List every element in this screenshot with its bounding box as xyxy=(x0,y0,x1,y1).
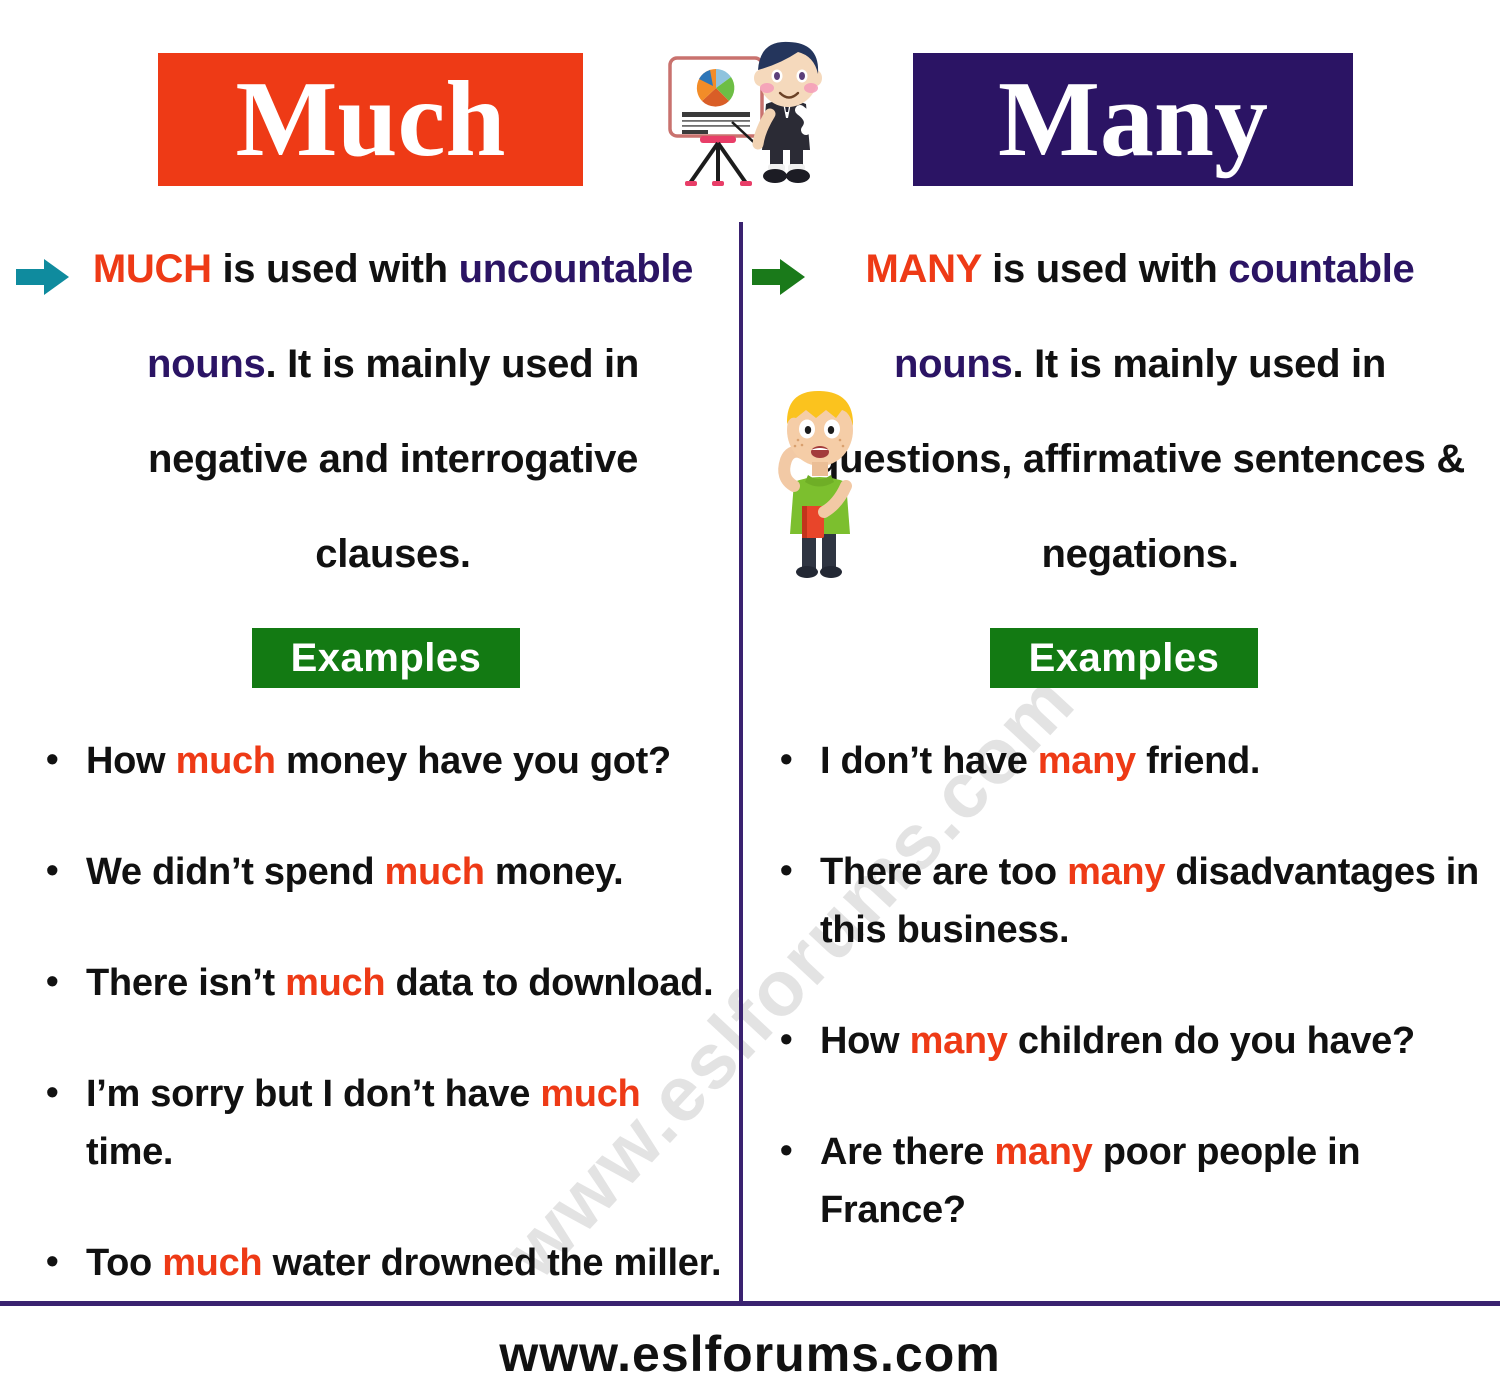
thinking-boy-icon xyxy=(762,382,882,587)
many-desc-part2: is used with xyxy=(981,247,1228,291)
footer-website: www.eslforums.com xyxy=(0,1325,1500,1383)
footer-divider xyxy=(0,1301,1500,1306)
example-before: I’m sorry but I don’t have xyxy=(86,1073,540,1115)
many-examples-list: I don’t have many friend. There are too … xyxy=(756,732,1482,1239)
example-keyword: much xyxy=(540,1073,640,1115)
example-after: money have you got? xyxy=(276,740,671,782)
much-desc-part2: is used with xyxy=(212,247,459,291)
list-item: There isn’t much data to download. xyxy=(40,954,724,1012)
example-before: How xyxy=(86,740,176,782)
example-before: We didn’t spend xyxy=(86,851,385,893)
much-examples-badge-row: Examples xyxy=(18,628,724,688)
many-examples-badge: Examples xyxy=(990,628,1258,688)
column-divider xyxy=(739,222,743,1304)
arrow-right-icon xyxy=(750,238,808,280)
example-before: Too xyxy=(86,1242,162,1284)
arrow-right-icon xyxy=(14,238,72,280)
example-after: friend. xyxy=(1136,740,1260,782)
list-item: There are too many disadvantages in this… xyxy=(774,843,1482,959)
much-examples-badge: Examples xyxy=(252,628,520,688)
example-before: Are there xyxy=(820,1131,994,1173)
much-title-box: Much xyxy=(158,53,583,186)
example-keyword: much xyxy=(176,740,276,782)
many-keyword: MANY xyxy=(865,247,981,291)
example-before: There isn’t xyxy=(86,962,285,1004)
example-before: There are too xyxy=(820,851,1067,893)
much-examples-list: How much money have you got? We didn’t s… xyxy=(18,732,724,1292)
many-title-text: Many xyxy=(998,58,1268,182)
list-item: I don’t have many friend. xyxy=(774,732,1482,790)
example-keyword: many xyxy=(994,1131,1092,1173)
list-item: How many children do you have? xyxy=(774,1012,1482,1070)
boy-presenting-whiteboard-icon xyxy=(648,26,858,196)
list-item: We didn’t spend much money. xyxy=(40,843,724,901)
example-before: I don’t have xyxy=(820,740,1038,782)
example-keyword: much xyxy=(385,851,485,893)
many-title-box: Many xyxy=(913,53,1353,186)
example-before: How xyxy=(820,1020,910,1062)
much-description: MUCH is used with uncountable nouns. It … xyxy=(18,222,724,602)
example-after: children do you have? xyxy=(1008,1020,1415,1062)
example-keyword: many xyxy=(1038,740,1136,782)
example-keyword: many xyxy=(910,1020,1008,1062)
list-item: Are there many poor people in France? xyxy=(774,1123,1482,1239)
list-item: I’m sorry but I don’t have much time. xyxy=(40,1065,724,1181)
list-item: Too much water drowned the miller. xyxy=(40,1234,724,1292)
example-after: data to download. xyxy=(385,962,713,1004)
example-keyword: much xyxy=(285,962,385,1004)
example-after: water drowned the miller. xyxy=(262,1242,721,1284)
example-keyword: much xyxy=(162,1242,262,1284)
many-examples-badge-row: Examples xyxy=(756,628,1482,688)
much-keyword: MUCH xyxy=(93,247,212,291)
example-after: time. xyxy=(86,1131,173,1173)
list-item: How much money have you got? xyxy=(40,732,724,790)
example-after: money. xyxy=(485,851,624,893)
example-keyword: many xyxy=(1067,851,1165,893)
much-title-text: Much xyxy=(236,58,506,182)
much-column: MUCH is used with uncountable nouns. It … xyxy=(18,222,724,1345)
